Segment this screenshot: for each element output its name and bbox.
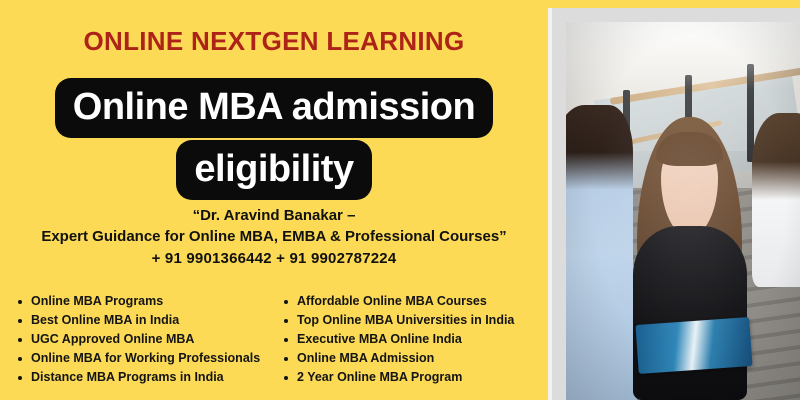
list-item-label: Online MBA for Working Professionals bbox=[31, 351, 260, 365]
brand-kicker: ONLINE NEXTGEN LEARNING bbox=[0, 26, 548, 57]
bullet-dot-icon bbox=[284, 300, 288, 304]
list-item: Affordable Online MBA Courses bbox=[284, 292, 548, 311]
list-item: Distance MBA Programs in India bbox=[18, 368, 274, 387]
headline-line-2: eligibility bbox=[176, 140, 371, 200]
list-item: 2 Year Online MBA Program bbox=[284, 368, 548, 387]
bullet-dot-icon bbox=[18, 376, 22, 380]
list-item: Online MBA Admission bbox=[284, 349, 548, 368]
bullet-dot-icon bbox=[18, 319, 22, 323]
keyword-list-right: Affordable Online MBA Courses Top Online… bbox=[274, 292, 548, 387]
students-photo bbox=[566, 22, 800, 400]
testimonial-block: “Dr. Aravind Banakar – Expert Guidance f… bbox=[0, 205, 548, 269]
bullet-dot-icon bbox=[284, 338, 288, 342]
list-item-label: Online MBA Programs bbox=[31, 294, 163, 308]
bullet-dot-icon bbox=[18, 357, 22, 361]
bullet-dot-icon bbox=[18, 300, 22, 304]
headline-line-1: Online MBA admission bbox=[55, 78, 493, 138]
list-item-label: Top Online MBA Universities in India bbox=[297, 313, 514, 327]
list-item-label: UGC Approved Online MBA bbox=[31, 332, 194, 346]
list-item: Top Online MBA Universities in India bbox=[284, 311, 548, 330]
list-item: Executive MBA Online India bbox=[284, 330, 548, 349]
bullet-dot-icon bbox=[18, 338, 22, 342]
photo-top-accent-strip bbox=[548, 0, 800, 8]
bullet-dot-icon bbox=[284, 357, 288, 361]
testimonial-line-1: “Dr. Aravind Banakar – bbox=[4, 205, 544, 226]
list-item: UGC Approved Online MBA bbox=[18, 330, 274, 349]
list-item-label: Affordable Online MBA Courses bbox=[297, 294, 487, 308]
list-item-label: 2 Year Online MBA Program bbox=[297, 370, 462, 384]
photo-frame bbox=[548, 8, 800, 400]
bullet-dot-icon bbox=[284, 376, 288, 380]
list-item-label: Online MBA Admission bbox=[297, 351, 434, 365]
list-item-label: Distance MBA Programs in India bbox=[31, 370, 224, 384]
keyword-lists: Online MBA Programs Best Online MBA in I… bbox=[0, 292, 548, 387]
list-item-label: Best Online MBA in India bbox=[31, 313, 179, 327]
contact-phone-numbers: + 91 9901366442 + 91 9902787224 bbox=[4, 248, 544, 269]
photo-vignette bbox=[566, 22, 800, 400]
bullet-dot-icon bbox=[284, 319, 288, 323]
headline-row-1: Online MBA admission bbox=[0, 78, 548, 138]
headline-block: Online MBA admission eligibility bbox=[0, 78, 548, 200]
keyword-list-left: Online MBA Programs Best Online MBA in I… bbox=[0, 292, 274, 387]
list-item: Online MBA Programs bbox=[18, 292, 274, 311]
list-item-label: Executive MBA Online India bbox=[297, 332, 462, 346]
list-item: Best Online MBA in India bbox=[18, 311, 274, 330]
content-column: ONLINE NEXTGEN LEARNING Online MBA admis… bbox=[0, 0, 548, 400]
testimonial-line-2: Expert Guidance for Online MBA, EMBA & P… bbox=[4, 226, 544, 247]
promo-banner: ONLINE NEXTGEN LEARNING Online MBA admis… bbox=[0, 0, 800, 400]
list-item: Online MBA for Working Professionals bbox=[18, 349, 274, 368]
headline-row-2: eligibility bbox=[0, 140, 548, 200]
